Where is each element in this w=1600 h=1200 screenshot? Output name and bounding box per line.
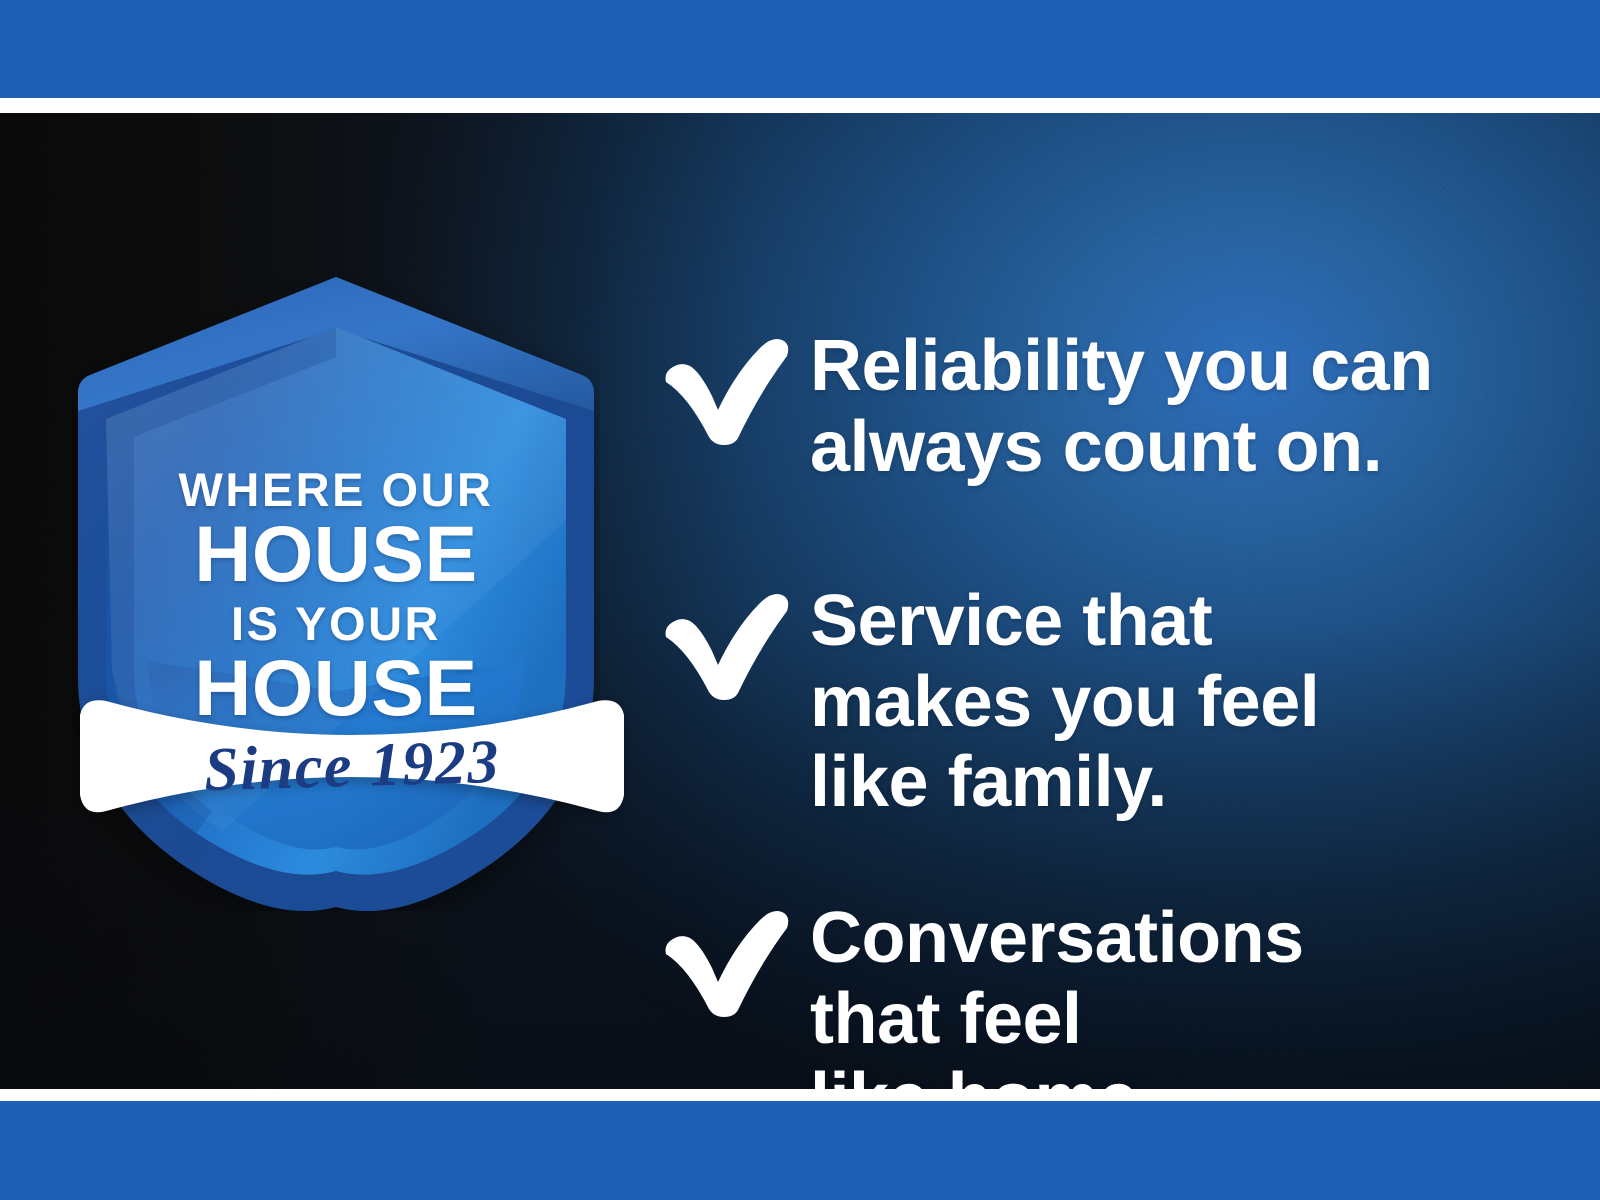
bottom-white-divider	[0, 1089, 1600, 1101]
check-mark-icon	[660, 326, 810, 446]
benefit-item-reliability: Reliability you can always count on.	[660, 326, 1433, 487]
benefit-item-service: Service that makes you feel like family.	[660, 581, 1319, 823]
benefits-list: Reliability you can always count on. Ser…	[660, 226, 1560, 1089]
check-mark-icon	[660, 898, 810, 1018]
top-white-divider	[0, 98, 1600, 113]
check-mark-glyph	[660, 334, 792, 446]
check-mark-icon	[660, 581, 810, 701]
check-mark-glyph	[660, 589, 792, 701]
top-brand-bar	[0, 0, 1600, 98]
bottom-brand-bar	[0, 1101, 1600, 1200]
ribbon-shape	[72, 677, 632, 857]
main-stage: WHERE OUR HOUSE IS YOUR HOUSE Since 1923	[0, 113, 1600, 1089]
promo-graphic: WHERE OUR HOUSE IS YOUR HOUSE Since 1923	[0, 0, 1600, 1200]
check-mark-glyph	[660, 906, 792, 1018]
benefit-text-service: Service that makes you feel like family.	[810, 581, 1319, 823]
benefit-item-conversations: Conversations that feel like home.	[660, 898, 1304, 1089]
shield-badge: WHERE OUR HOUSE IS YOUR HOUSE Since 1923	[72, 271, 600, 911]
benefit-text-conversations: Conversations that feel like home.	[810, 898, 1304, 1089]
since-ribbon: Since 1923	[72, 677, 632, 857]
benefit-text-reliability: Reliability you can always count on.	[810, 326, 1433, 487]
